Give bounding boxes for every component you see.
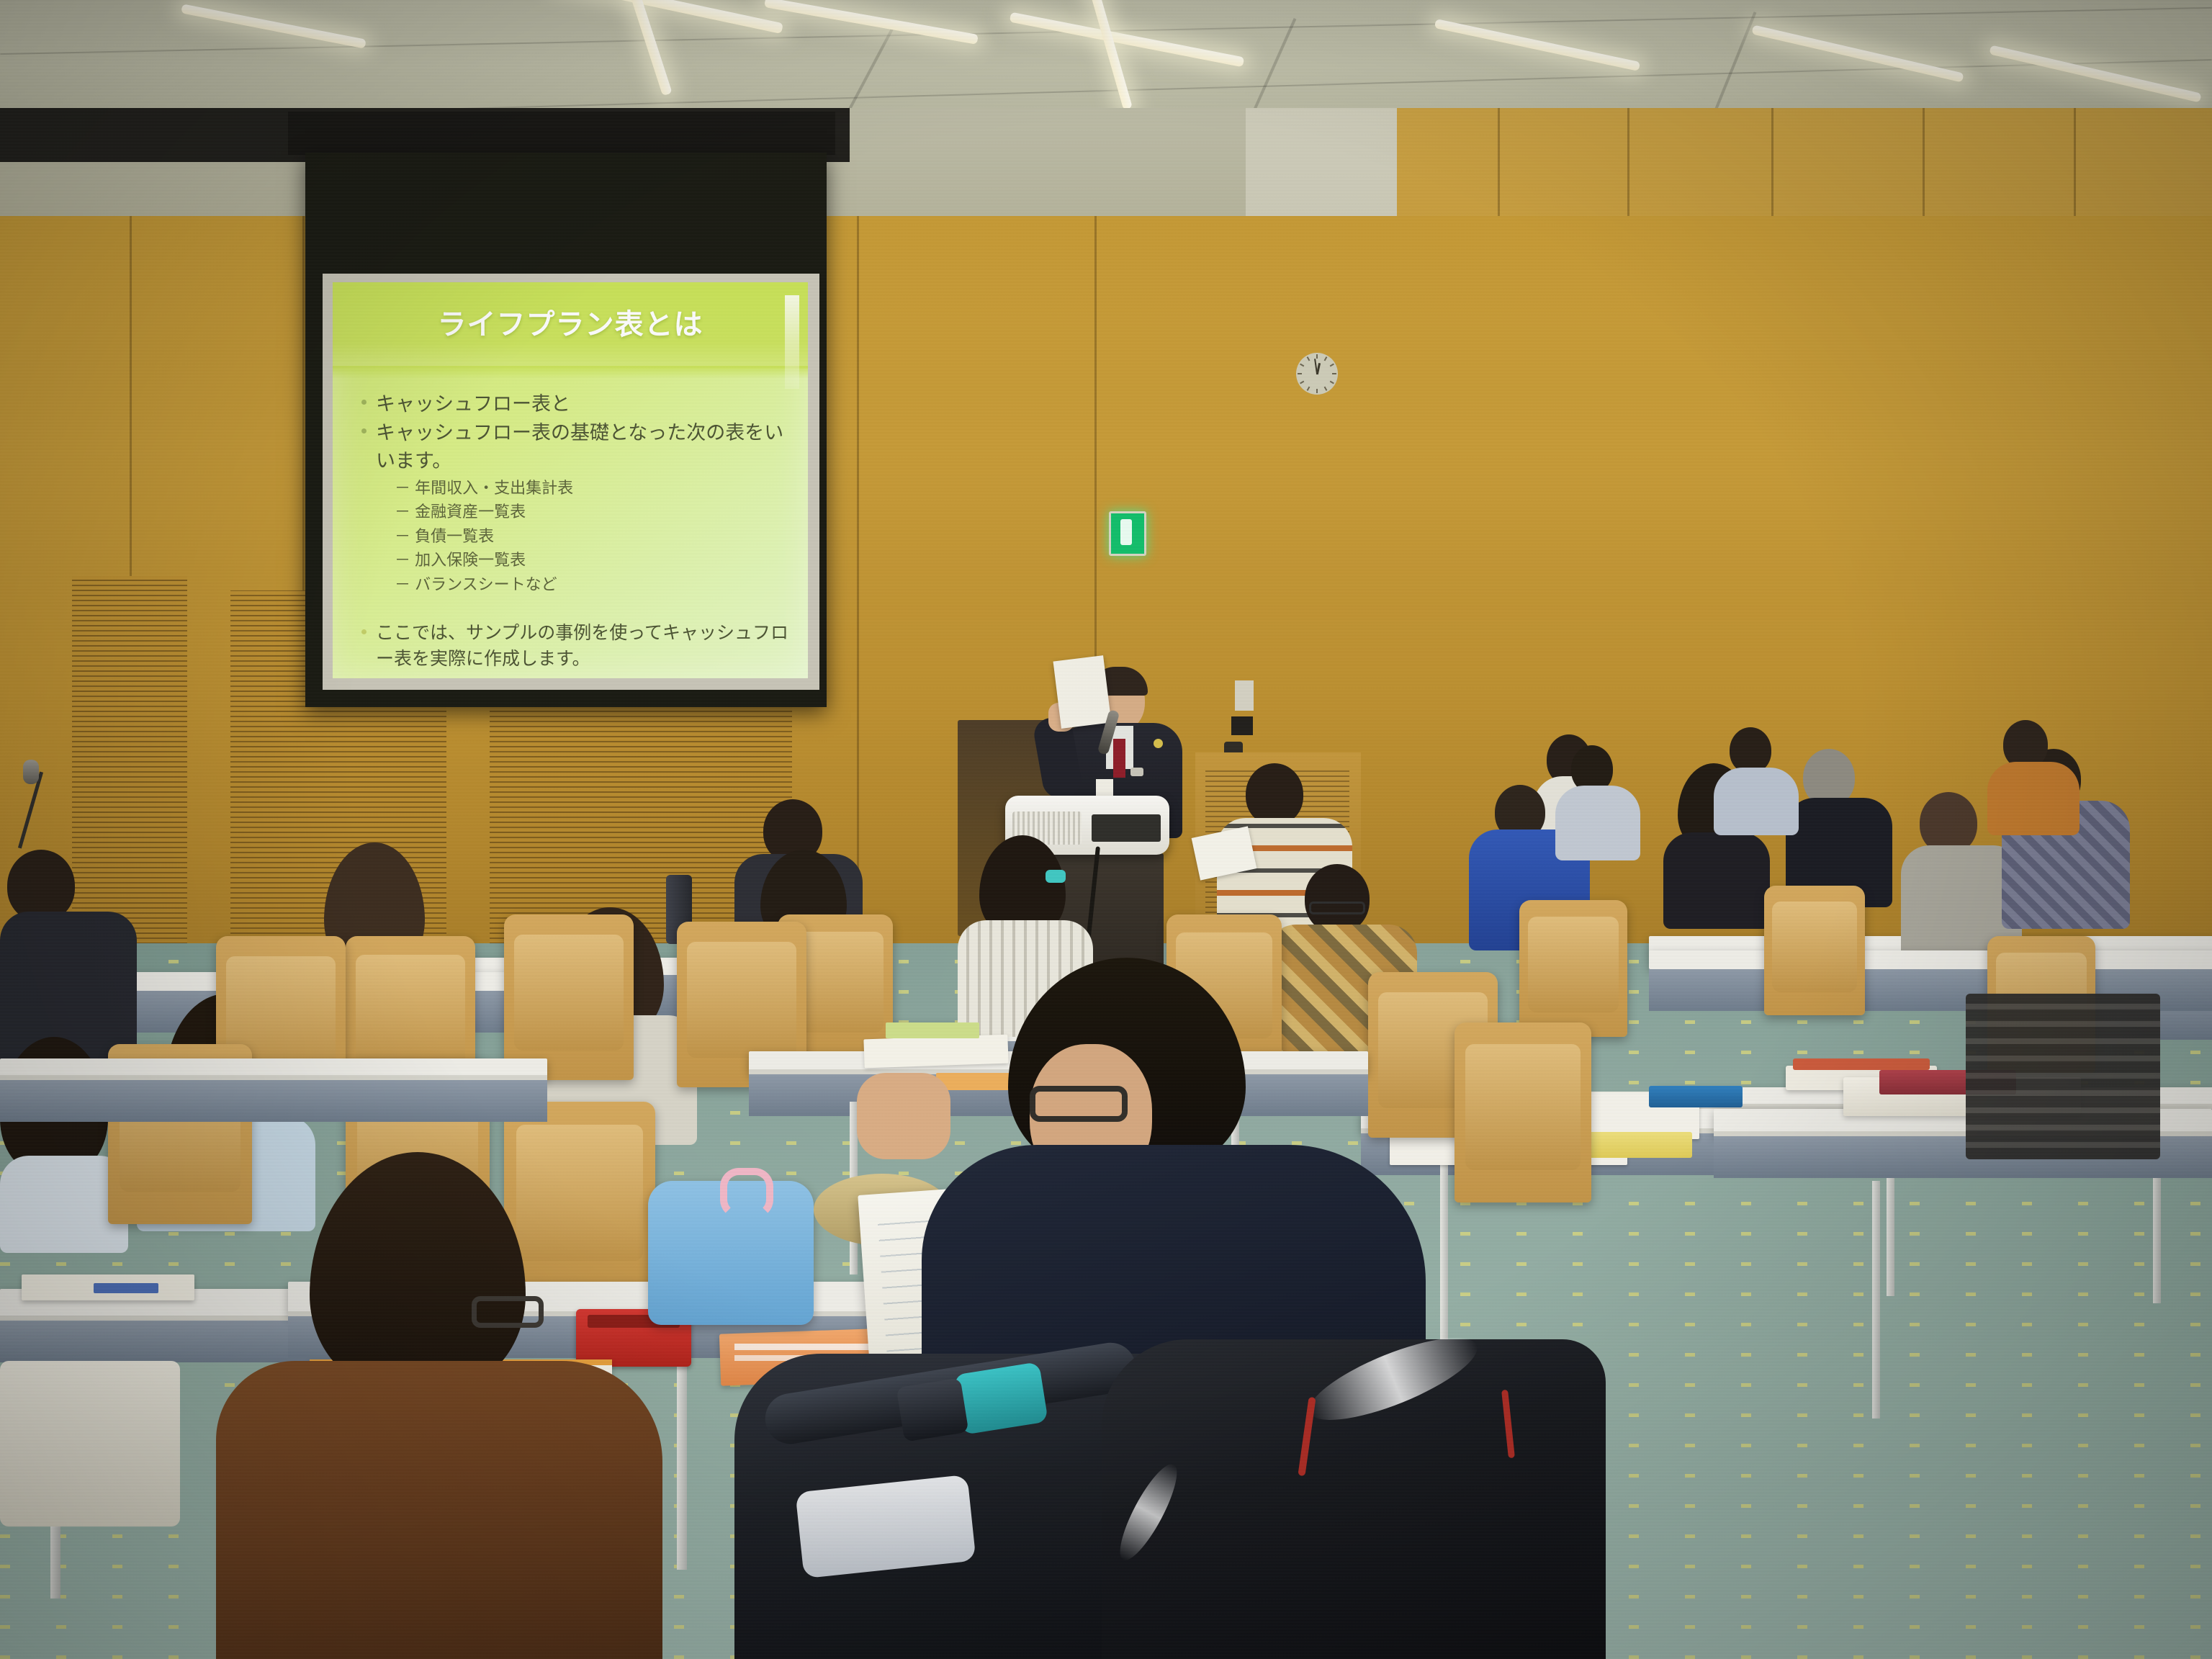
desk-row-front-left	[0, 1058, 547, 1080]
attendee	[0, 850, 144, 1066]
presenter-handout-paper	[1053, 655, 1112, 729]
eyeglasses-icon	[472, 1296, 544, 1328]
chair	[1455, 1022, 1591, 1202]
ceiling-light	[609, 0, 672, 96]
desk-leg	[1872, 1181, 1880, 1419]
screen-glare	[785, 295, 799, 389]
slide-sub-bullet: － 加入保険一覧表	[395, 548, 789, 572]
slide-bullet: キャッシュフロー表の基礎となった次の表をいいます。	[376, 419, 789, 475]
microphone-icon	[23, 760, 39, 784]
folder-label	[94, 1283, 158, 1293]
slide-closing-bullet: ここでは、サンプルの事例を使ってキャッシュフロー表を実際に作成します。	[376, 621, 789, 672]
slide-bullet: キャッシュフロー表と	[376, 390, 789, 418]
stroller-blanket	[795, 1475, 976, 1578]
ceiling-light	[549, 0, 783, 34]
ceiling-light	[181, 4, 367, 48]
projector-ports	[1092, 814, 1161, 842]
slide-sub-bullet: － バランスシートなど	[395, 572, 789, 596]
attendee	[1555, 745, 1642, 860]
attendee	[1987, 720, 2081, 835]
booklet-yellow-cover	[1577, 1132, 1692, 1158]
emergency-exit-icon	[1109, 511, 1146, 556]
desk-row-right-mid	[1649, 950, 2212, 969]
desk-leg	[677, 1354, 687, 1570]
slide-sub-bullet: － 負債一覧表	[395, 524, 789, 548]
presenter-watch	[1130, 768, 1143, 776]
slide-title: ライフプラン表とは	[333, 301, 808, 343]
stroller-clip	[896, 1377, 969, 1442]
booklet-cover	[1793, 1058, 1930, 1070]
attendee	[1786, 749, 1894, 907]
wall-clock	[1296, 353, 1338, 395]
hair-clip	[1046, 870, 1066, 883]
eyeglasses-icon	[1309, 902, 1365, 914]
ceiling-light	[1751, 24, 1964, 82]
booklet-blue-cover	[1649, 1086, 1743, 1107]
chair	[504, 914, 634, 1080]
chair	[1764, 886, 1865, 1015]
presentation-slide: ライフプラン表とは キャッシュフロー表と キャッシュフロー表の基礎となった次の表…	[333, 282, 808, 678]
stacked-chairs	[1966, 994, 2160, 1159]
presenter-tie	[1113, 739, 1125, 778]
backpack-strap	[720, 1168, 773, 1218]
white-bag	[0, 1361, 180, 1527]
ceiling-light	[1078, 0, 1133, 110]
hand-holding-paper	[857, 1073, 950, 1159]
chair	[1519, 900, 1627, 1037]
wall-switch-plate[interactable]	[1235, 680, 1254, 711]
slide-body: キャッシュフロー表と キャッシュフロー表の基礎となった次の表をいいます。 － 年…	[364, 390, 789, 672]
projector-screen-housing	[288, 112, 835, 155]
attendee-foreground-left	[216, 1152, 677, 1659]
slide-sub-bullet: － 年間収入・支出集計表	[395, 476, 789, 500]
hair	[310, 1152, 526, 1390]
ceiling-light	[1434, 19, 1640, 71]
presenter-lapel-pin	[1154, 739, 1163, 748]
brochure-text-line	[734, 1344, 878, 1350]
slide-sub-bullet: － 金融資産一覧表	[395, 500, 789, 523]
ceiling-light	[1010, 12, 1245, 68]
ceiling-light	[1989, 45, 2201, 102]
attendee	[1714, 727, 1800, 835]
wall-outlet[interactable]	[1231, 716, 1253, 735]
seminar-room-photo: ライフプラン表とは キャッシュフロー表と キャッシュフロー表の基礎となった次の表…	[0, 0, 2212, 1659]
brown-coat	[216, 1361, 662, 1659]
eyeglasses-icon	[1030, 1086, 1128, 1122]
